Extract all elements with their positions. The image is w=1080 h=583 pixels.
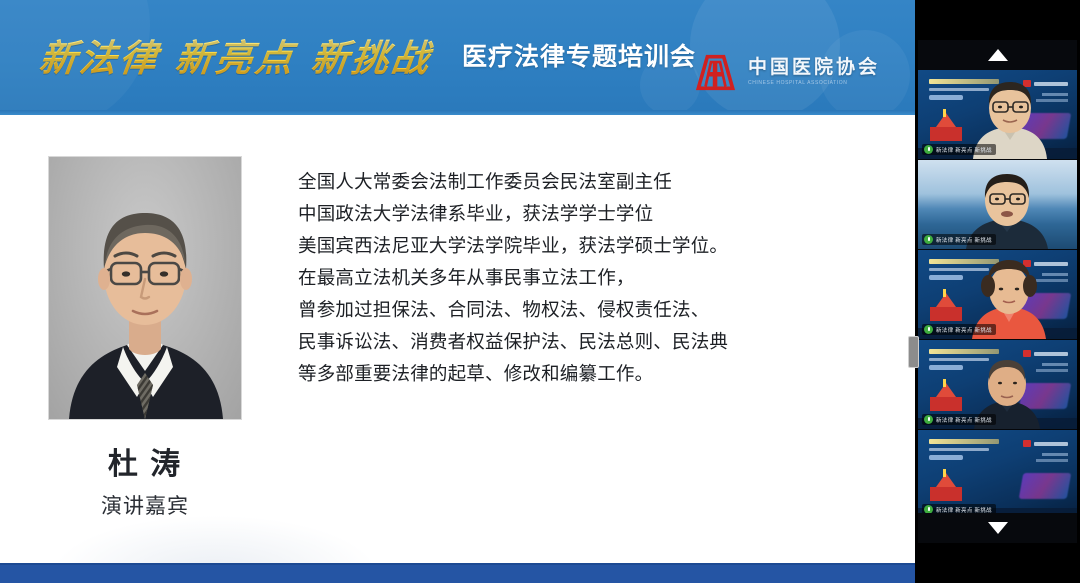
microphone-on-icon bbox=[924, 325, 933, 334]
bio-line: 在最高立法机关多年从事民事立法工作， bbox=[298, 268, 873, 291]
slide-banner: 新法律新亮点新挑战 医疗法律专题培训会 中国医院协会 CHINESE HOSPI… bbox=[0, 0, 915, 115]
video-tile[interactable]: 新法律 新亮点 新挑战 bbox=[918, 70, 1077, 159]
bio-line: 曾参加过担保法、合同法、物权法、侵权责任法、 bbox=[298, 300, 873, 323]
speaker-portrait-frame bbox=[48, 156, 242, 420]
slide-glow-decoration bbox=[50, 515, 380, 563]
panel-resize-handle-icon[interactable] bbox=[908, 336, 919, 368]
tile-backdrop bbox=[918, 430, 1077, 513]
slide-footer-band bbox=[0, 563, 915, 583]
participant-name: 新法律 新亮点 新挑战 bbox=[936, 146, 992, 154]
video-tile[interactable]: 新法律 新亮点 新挑战 bbox=[918, 250, 1077, 339]
participant-name-badge: 新法律 新亮点 新挑战 bbox=[922, 414, 996, 425]
microphone-on-icon bbox=[924, 145, 933, 154]
video-rail-body: 新法律 新亮点 新挑战 bbox=[918, 40, 1077, 543]
bio-line: 中国政法大学法律系毕业，获法学学士学位 bbox=[298, 204, 873, 227]
bio-line: 等多部重要法律的起草、修改和编纂工作。 bbox=[298, 364, 873, 387]
slide-content: 杜 涛 演讲嘉宾 全国人大常委会法制工作委员会民法室副主任 中国政法大学法律系毕… bbox=[0, 115, 915, 563]
speaker-name: 杜 涛 bbox=[48, 439, 242, 483]
participant-name: 新法律 新亮点 新挑战 bbox=[936, 236, 992, 244]
banner-calligraphy-title: 新法律新亮点新挑战 bbox=[37, 28, 452, 82]
calligraphy-word-1: 新法律 bbox=[37, 36, 178, 80]
presentation-stage[interactable]: 新法律新亮点新挑战 医疗法律专题培训会 中国医院协会 CHINESE HOSPI… bbox=[0, 0, 915, 583]
microphone-on-icon bbox=[924, 505, 933, 513]
organization-name-cn: 中国医院协会 bbox=[748, 58, 880, 77]
participant-name-badge: 新法律 新亮点 新挑战 bbox=[922, 324, 996, 335]
participant-name: 新法律 新亮点 新挑战 bbox=[936, 506, 992, 514]
speaker-block: 杜 涛 演讲嘉宾 bbox=[48, 156, 242, 520]
microphone-on-icon bbox=[924, 415, 933, 424]
speaker-bio: 全国人大常委会法制工作委员会民法室副主任 中国政法大学法律系毕业，获法学学士学位… bbox=[298, 172, 873, 396]
microphone-on-icon bbox=[924, 235, 933, 244]
conference-presentation-window: 新法律新亮点新挑战 医疗法律专题培训会 中国医院协会 CHINESE HOSPI… bbox=[0, 0, 1080, 583]
banner-subtitle: 医疗法律专题培训会 bbox=[462, 37, 696, 73]
triangle-up-icon bbox=[988, 49, 1008, 61]
participant-name-badge: 新法律 新亮点 新挑战 bbox=[922, 504, 996, 513]
hospital-association-emblem-icon bbox=[692, 52, 739, 92]
calligraphy-word-2: 新亮点 bbox=[173, 36, 314, 80]
bio-line: 全国人大常委会法制工作委员会民法室副主任 bbox=[298, 172, 873, 195]
bio-line: 民事诉讼法、消费者权益保护法、民法总则、民法典 bbox=[298, 332, 873, 355]
triangle-down-icon bbox=[988, 522, 1008, 534]
calligraphy-word-3: 新挑战 bbox=[309, 36, 450, 80]
video-tile[interactable]: 新法律 新亮点 新挑战 bbox=[918, 430, 1077, 513]
video-tile[interactable]: 新法律 新亮点 新挑战 bbox=[918, 340, 1077, 429]
video-tile[interactable]: 新法律 新亮点 新挑战 bbox=[918, 160, 1077, 249]
bio-line: 美国宾西法尼亚大学法学院毕业，获法学硕士学位。 bbox=[298, 236, 873, 259]
participant-name-badge: 新法律 新亮点 新挑战 bbox=[922, 144, 996, 155]
participant-name: 新法律 新亮点 新挑战 bbox=[936, 326, 992, 334]
participant-name-badge: 新法律 新亮点 新挑战 bbox=[922, 234, 996, 245]
speaker-role: 演讲嘉宾 bbox=[48, 490, 242, 520]
stage-decoration-icon bbox=[926, 467, 966, 507]
organization-logo: 中国医院协会 CHINESE HOSPITAL ASSOCIATION bbox=[692, 52, 880, 92]
video-thumbnail-rail: 新法律 新亮点 新挑战 bbox=[915, 0, 1080, 583]
video-tile-list: 新法律 新亮点 新挑战 bbox=[918, 70, 1077, 513]
speaker-portrait-photo bbox=[49, 157, 241, 419]
scroll-up-button[interactable] bbox=[918, 40, 1077, 70]
participant-name: 新法律 新亮点 新挑战 bbox=[936, 416, 992, 424]
organization-name-en: CHINESE HOSPITAL ASSOCIATION bbox=[748, 81, 880, 86]
slide-canvas: 新法律新亮点新挑战 医疗法律专题培训会 中国医院协会 CHINESE HOSPI… bbox=[0, 0, 915, 563]
scroll-down-button[interactable] bbox=[918, 513, 1077, 543]
